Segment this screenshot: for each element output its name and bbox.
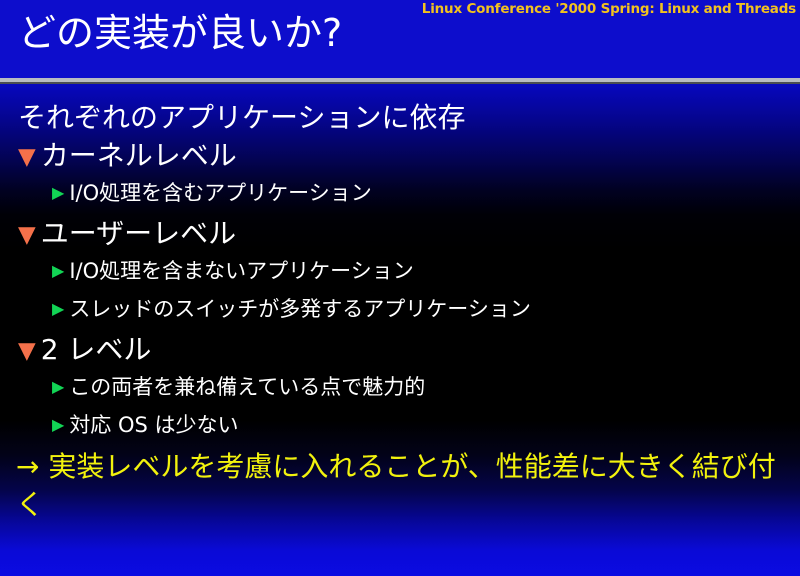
list-item: ▶ 対応 OS は少ない	[0, 410, 800, 448]
triangle-right-icon: ▶	[52, 263, 64, 279]
list-item: ▶ この両者を兼ね備えている点で魅力的	[0, 372, 800, 410]
list-item: ▼ 2 レベル	[0, 332, 800, 372]
slide-body: それぞれのアプリケーションに依存 ▼ カーネルレベル ▶ I/O処理を含むアプリ…	[0, 100, 800, 524]
triangle-down-icon: ▼	[18, 224, 36, 247]
list-item-label: ユーザーレベル	[41, 216, 236, 252]
list-item: ▶ I/O処理を含むアプリケーション	[0, 178, 800, 216]
triangle-down-icon: ▼	[18, 340, 36, 363]
list-item-label: カーネルレベル	[41, 138, 237, 174]
intro-line: それぞれのアプリケーションに依存	[0, 100, 800, 138]
triangle-right-icon: ▶	[52, 417, 64, 433]
list-item: ▼ カーネルレベル	[0, 138, 800, 178]
list-item-label: 2 レベル	[41, 332, 152, 368]
intro-text: それぞれのアプリケーションに依存	[18, 100, 465, 136]
triangle-right-icon: ▶	[52, 379, 64, 395]
list-item-label: この両者を兼ね備えている点で魅力的	[69, 372, 425, 402]
title-separator-rule	[0, 78, 800, 84]
presentation-slide: Linux Conference '2000 Spring: Linux and…	[0, 0, 800, 576]
conference-label: Linux Conference '2000 Spring: Linux and…	[422, 1, 796, 17]
list-item: ▶ I/O処理を含まないアプリケーション	[0, 256, 800, 294]
conclusion-text: → 実装レベルを考慮に入れることが、性能差に大きく結び付く	[0, 448, 786, 524]
page-title: どの実装が良いか?	[18, 14, 342, 54]
list-item: ▶ スレッドのスイッチが多発するアプリケーション	[0, 294, 800, 332]
list-item-label: 対応 OS は少ない	[69, 410, 238, 440]
triangle-right-icon: ▶	[52, 301, 64, 317]
list-item-label: スレッドのスイッチが多発するアプリケーション	[69, 294, 531, 324]
list-item-label: I/O処理を含むアプリケーション	[69, 178, 371, 208]
list-item: ▼ ユーザーレベル	[0, 216, 800, 256]
triangle-down-icon: ▼	[18, 146, 36, 169]
triangle-right-icon: ▶	[52, 185, 64, 201]
list-item-label: I/O処理を含まないアプリケーション	[69, 256, 413, 286]
